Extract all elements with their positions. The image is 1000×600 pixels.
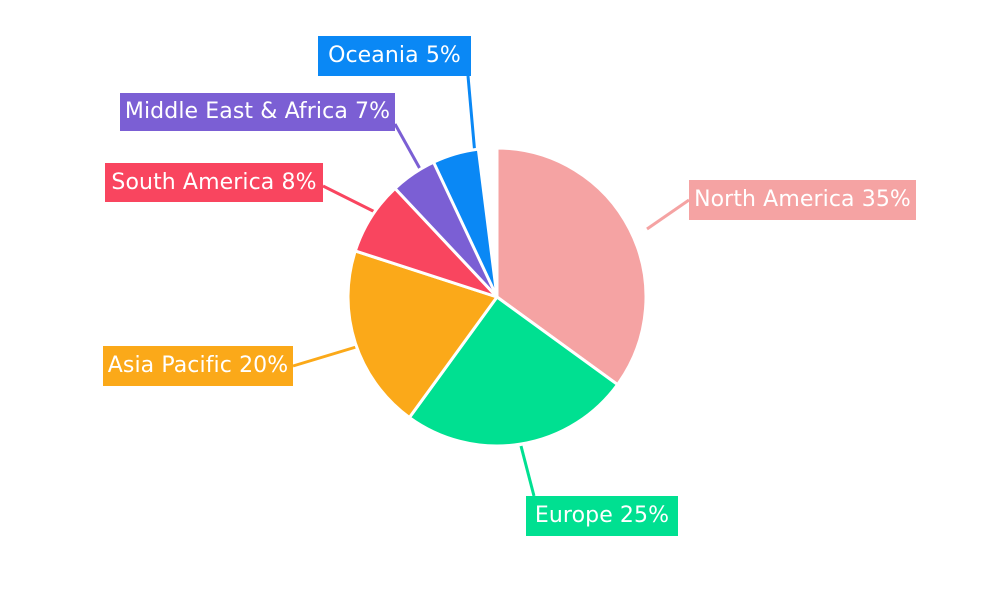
pie-wedge-group (348, 148, 646, 446)
leader-line (323, 186, 381, 215)
pie-slice-label: South America 8% (105, 163, 323, 202)
pie-slice-label: Middle East & Africa 7% (120, 93, 395, 131)
pie-slice-label: North America 35% (689, 180, 916, 220)
leader-line (521, 446, 534, 496)
leader-line (293, 344, 366, 366)
pie-slice-label: Europe 25% (526, 496, 678, 536)
pie-slice-label: Asia Pacific 20% (103, 346, 293, 386)
pie-chart-figure: North America 35%Europe 25%Asia Pacific … (0, 0, 1000, 600)
pie-chart-canvas (0, 0, 1000, 600)
leader-line (647, 200, 689, 229)
pie-slice-label: Oceania 5% (318, 36, 471, 76)
leader-line (468, 76, 475, 155)
